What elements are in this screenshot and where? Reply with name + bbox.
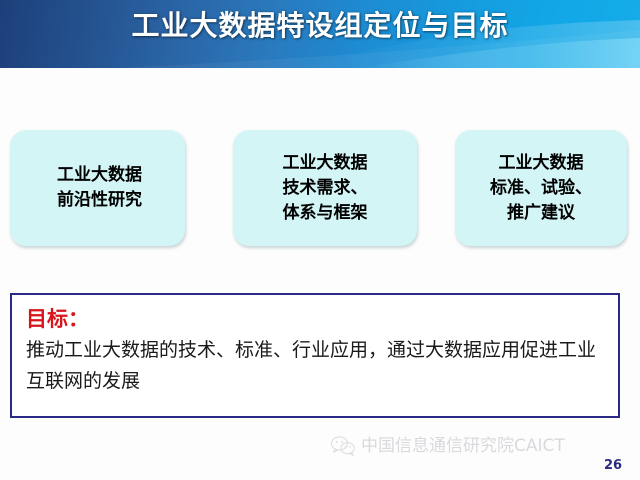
footer-brand-label: 中国信息通信研究院CAICT: [361, 435, 565, 457]
page-number: 26: [604, 458, 622, 474]
concept-box-label: 工业大数据 前沿性研究: [53, 163, 142, 213]
goal-description: 推动工业大数据的技术、标准、行业应用，通过大数据应用促进工业互联网的发展: [26, 335, 606, 397]
goal-label: 目标：: [26, 305, 606, 333]
wechat-icon: [330, 435, 356, 457]
concept-box-label: 工业大数据 标准、试验、 推广建议: [490, 151, 592, 226]
concept-box-tech-requirements[interactable]: 工业大数据 技术需求、 体系与框架: [233, 130, 417, 246]
slide-canvas: 工业大数据特设组定位与目标 工业大数据 前沿性研究 工业大数据 技术需求、 体系…: [0, 0, 640, 480]
goal-panel: 目标： 推动工业大数据的技术、标准、行业应用，通过大数据应用促进工业互联网的发展: [10, 293, 620, 418]
concept-box-label: 工业大数据 技术需求、 体系与框架: [283, 151, 368, 226]
concept-box-standards-trials[interactable]: 工业大数据 标准、试验、 推广建议: [455, 130, 627, 246]
concept-box-frontier-research[interactable]: 工业大数据 前沿性研究: [10, 130, 185, 246]
slide-header-banner: 工业大数据特设组定位与目标: [0, 0, 640, 68]
page-title: 工业大数据特设组定位与目标: [0, 6, 640, 46]
footer-watermark: 中国信息通信研究院CAICT: [330, 432, 620, 460]
